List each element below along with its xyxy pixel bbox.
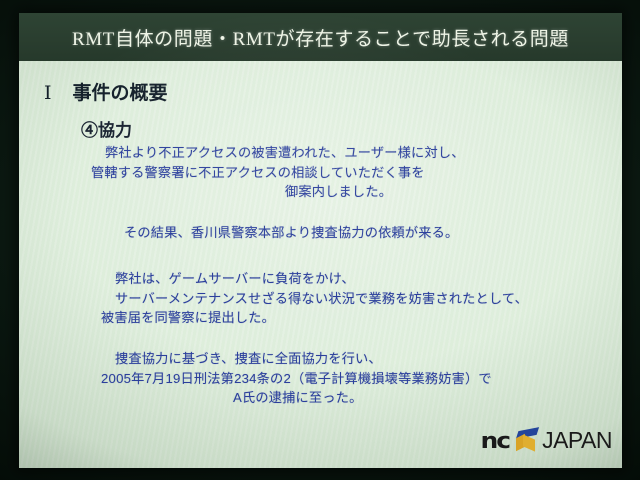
paragraph-2-line-1: その結果、香川県警察本部より捜査協力の依頼が来る。 xyxy=(124,223,622,243)
paragraph-1-line-1: 弊社より不正アクセスの被害遭われた、ユーザー様に対し、 xyxy=(105,143,622,163)
nc-japan-logo: nc JAPAN xyxy=(480,426,612,454)
paragraph-1: 弊社より不正アクセスの被害遭われた、ユーザー様に対し、 管轄する警察署に不正アク… xyxy=(105,143,622,202)
presentation-photo: RMT自体の問題・RMTが存在することで助長される問題 Ⅰ 事件の概要 ④協力 … xyxy=(0,0,640,480)
paragraph-1-line-3: 御案内しました。 xyxy=(105,182,622,202)
slide-header-band: RMT自体の問題・RMTが存在することで助長される問題 xyxy=(19,13,622,61)
section-label: 事件の概要 xyxy=(73,78,168,105)
nc-japan-emblem-icon xyxy=(513,426,539,454)
paragraph-4: 捜査協力に基づき、捜査に全面協力を行い、 2005年7月19日刑法第234条の2… xyxy=(115,349,622,408)
slide-title: RMT自体の問題・RMTが存在することで助長される問題 xyxy=(72,24,569,51)
section-heading: Ⅰ 事件の概要 xyxy=(44,78,168,105)
section-numeral: Ⅰ xyxy=(44,82,52,105)
paragraph-2: その結果、香川県警察本部より捜査協力の依頼が来る。 xyxy=(124,223,622,243)
paragraph-4-line-3: A氏の逮捕に至った。 xyxy=(115,388,622,408)
paragraph-4-line-2: 2005年7月19日刑法第234条の2（電子計算機損壊等業務妨害）で xyxy=(101,369,622,389)
sub-heading-cooperation: ④協力 xyxy=(81,116,132,141)
logo-nc-text: nc xyxy=(480,429,509,451)
slide-body: Ⅰ 事件の概要 ④協力 弊社より不正アクセスの被害遭われた、ユーザー様に対し、 … xyxy=(19,61,622,468)
paragraph-4-line-1: 捜査協力に基づき、捜査に全面協力を行い、 xyxy=(115,349,622,369)
projected-slide: RMT自体の問題・RMTが存在することで助長される問題 Ⅰ 事件の概要 ④協力 … xyxy=(19,13,622,468)
logo-japan-text: JAPAN xyxy=(542,429,612,452)
paragraph-3: 弊社は、ゲームサーバーに負荷をかけ、 サーバーメンテナンスせざる得ない状況で業務… xyxy=(115,269,622,328)
emblem-gold-right xyxy=(523,434,535,451)
paragraph-1-line-2: 管轄する警察署に不正アクセスの相談していただく事を xyxy=(91,163,622,183)
paragraph-3-line-3: 被害届を同警察に提出した。 xyxy=(101,308,622,328)
paragraph-3-line-1: 弊社は、ゲームサーバーに負荷をかけ、 xyxy=(115,269,622,289)
paragraph-3-line-2: サーバーメンテナンスせざる得ない状況で業務を妨害されたとして、 xyxy=(115,289,622,309)
